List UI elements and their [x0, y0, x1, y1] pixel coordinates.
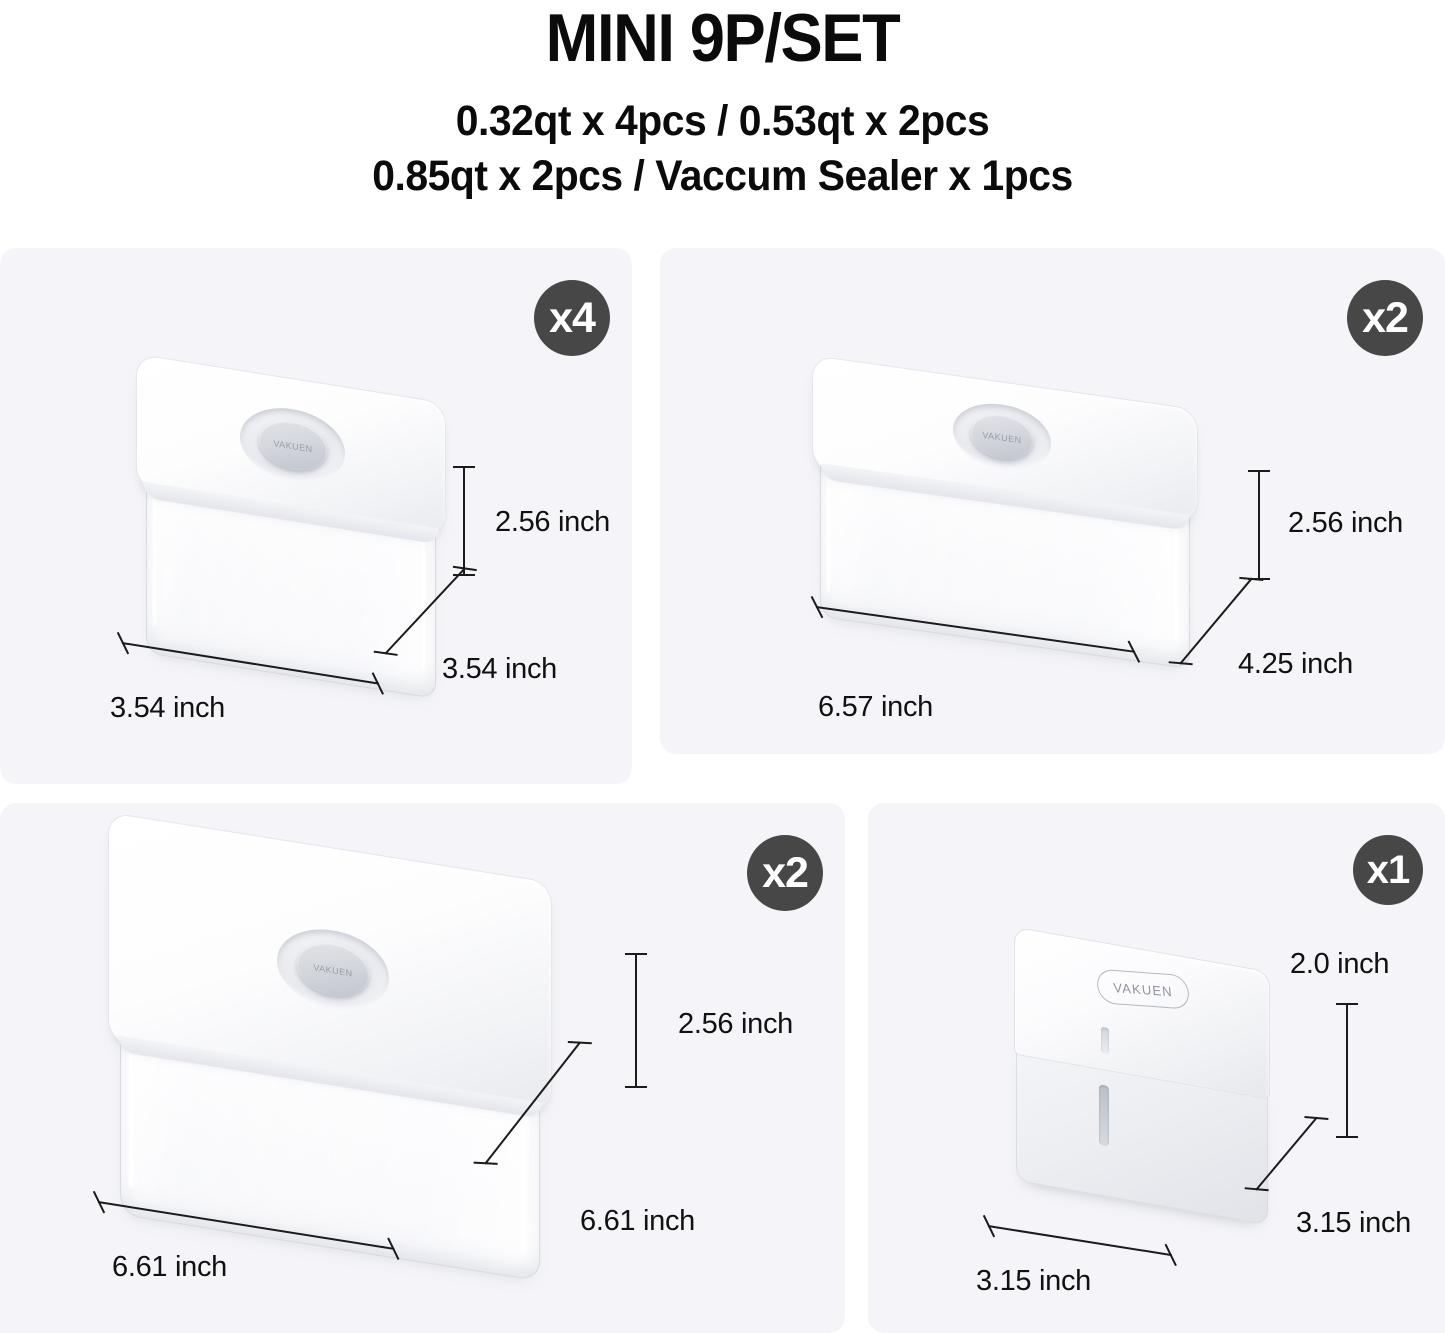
product-panel-vacuum-sealer: x1 VAKUEN 2.0 inch 3.15 inch [868, 803, 1445, 1333]
height-dimension-line [1258, 470, 1260, 580]
product-panel-rectangular: x2 VAKUEN 2.56 inch 4.25 inch [660, 248, 1445, 754]
glass-edge-left [827, 472, 830, 592]
height-dimension-line [635, 953, 637, 1088]
sealer-base-slot [1099, 1084, 1109, 1146]
subtitle-line-2: 0.85qt x 2pcs / Vaccum Sealer x 1pcs [36, 149, 1409, 204]
height-dimension-label: 2.56 inch [678, 1008, 793, 1041]
header: MINI 9P/SET 0.32qt x 4pcs / 0.53qt x 2pc… [0, 0, 1445, 204]
height-dimension-line [1346, 1003, 1348, 1138]
valve-brand-mark: VAKUEN [259, 436, 327, 457]
height-dimension-line [463, 466, 465, 576]
subtitle-line-1: 0.32qt x 4pcs / 0.53qt x 2pcs [36, 94, 1409, 149]
quantity-badge: x4 [534, 280, 610, 356]
height-dimension-label: 2.0 inch [1290, 948, 1389, 981]
width-dimension-label: 3.15 inch [976, 1265, 1091, 1298]
width-dimension-label: 6.57 inch [818, 691, 933, 724]
product-spec-infographic: MINI 9P/SET 0.32qt x 4pcs / 0.53qt x 2pc… [0, 0, 1445, 1333]
valve-brand-mark: VAKUEN [297, 960, 369, 981]
quantity-badge: x2 [747, 835, 823, 911]
width-dimension-label: 3.54 inch [110, 692, 225, 725]
glass-edge-right [1174, 517, 1177, 641]
sealer-brand-text: VAKUEN [1113, 979, 1174, 998]
glass-edge-right [422, 524, 425, 669]
depth-dimension-label: 3.54 inch [442, 653, 557, 686]
depth-dimension-label: 6.61 inch [580, 1205, 695, 1238]
quantity-badge: x2 [1347, 280, 1423, 356]
product-image-vacuum-sealer: VAKUEN [998, 943, 1298, 1243]
depth-dimension-label: 4.25 inch [1238, 648, 1353, 681]
valve-brand-mark: VAKUEN [971, 429, 1033, 448]
depth-tick-end [1304, 1116, 1328, 1120]
page-title: MINI 9P/SET [51, 0, 1395, 72]
height-dimension-label: 2.56 inch [1288, 507, 1403, 540]
quantity-badge: x1 [1353, 835, 1423, 905]
subtitle-block: 0.32qt x 4pcs / 0.53qt x 2pcs 0.85qt x 2… [0, 94, 1445, 204]
product-panel-square-large: x2 VAKUEN 2.56 inch 6.61 inch [0, 803, 845, 1333]
sealer-brand-logo: VAKUEN [1095, 969, 1190, 1010]
glass-edge-left [129, 1052, 133, 1188]
product-image-square-large: VAKUEN [90, 831, 600, 1251]
product-image-square-small: VAKUEN [118, 368, 478, 698]
product-panel-square-small: x4 VAKUEN 2.56 inch [0, 248, 632, 784]
glass-edge-right [521, 1110, 525, 1251]
depth-dimension-label: 3.15 inch [1296, 1207, 1411, 1240]
glass-edge-left [153, 485, 156, 625]
height-dimension-label: 2.56 inch [495, 506, 610, 539]
width-tick-end [1165, 1244, 1177, 1266]
width-dimension-label: 6.61 inch [112, 1251, 227, 1284]
sealer-led-indicator [1101, 1027, 1109, 1054]
product-image-rectangular: VAKUEN [800, 368, 1230, 688]
width-tick-start [983, 1215, 995, 1237]
